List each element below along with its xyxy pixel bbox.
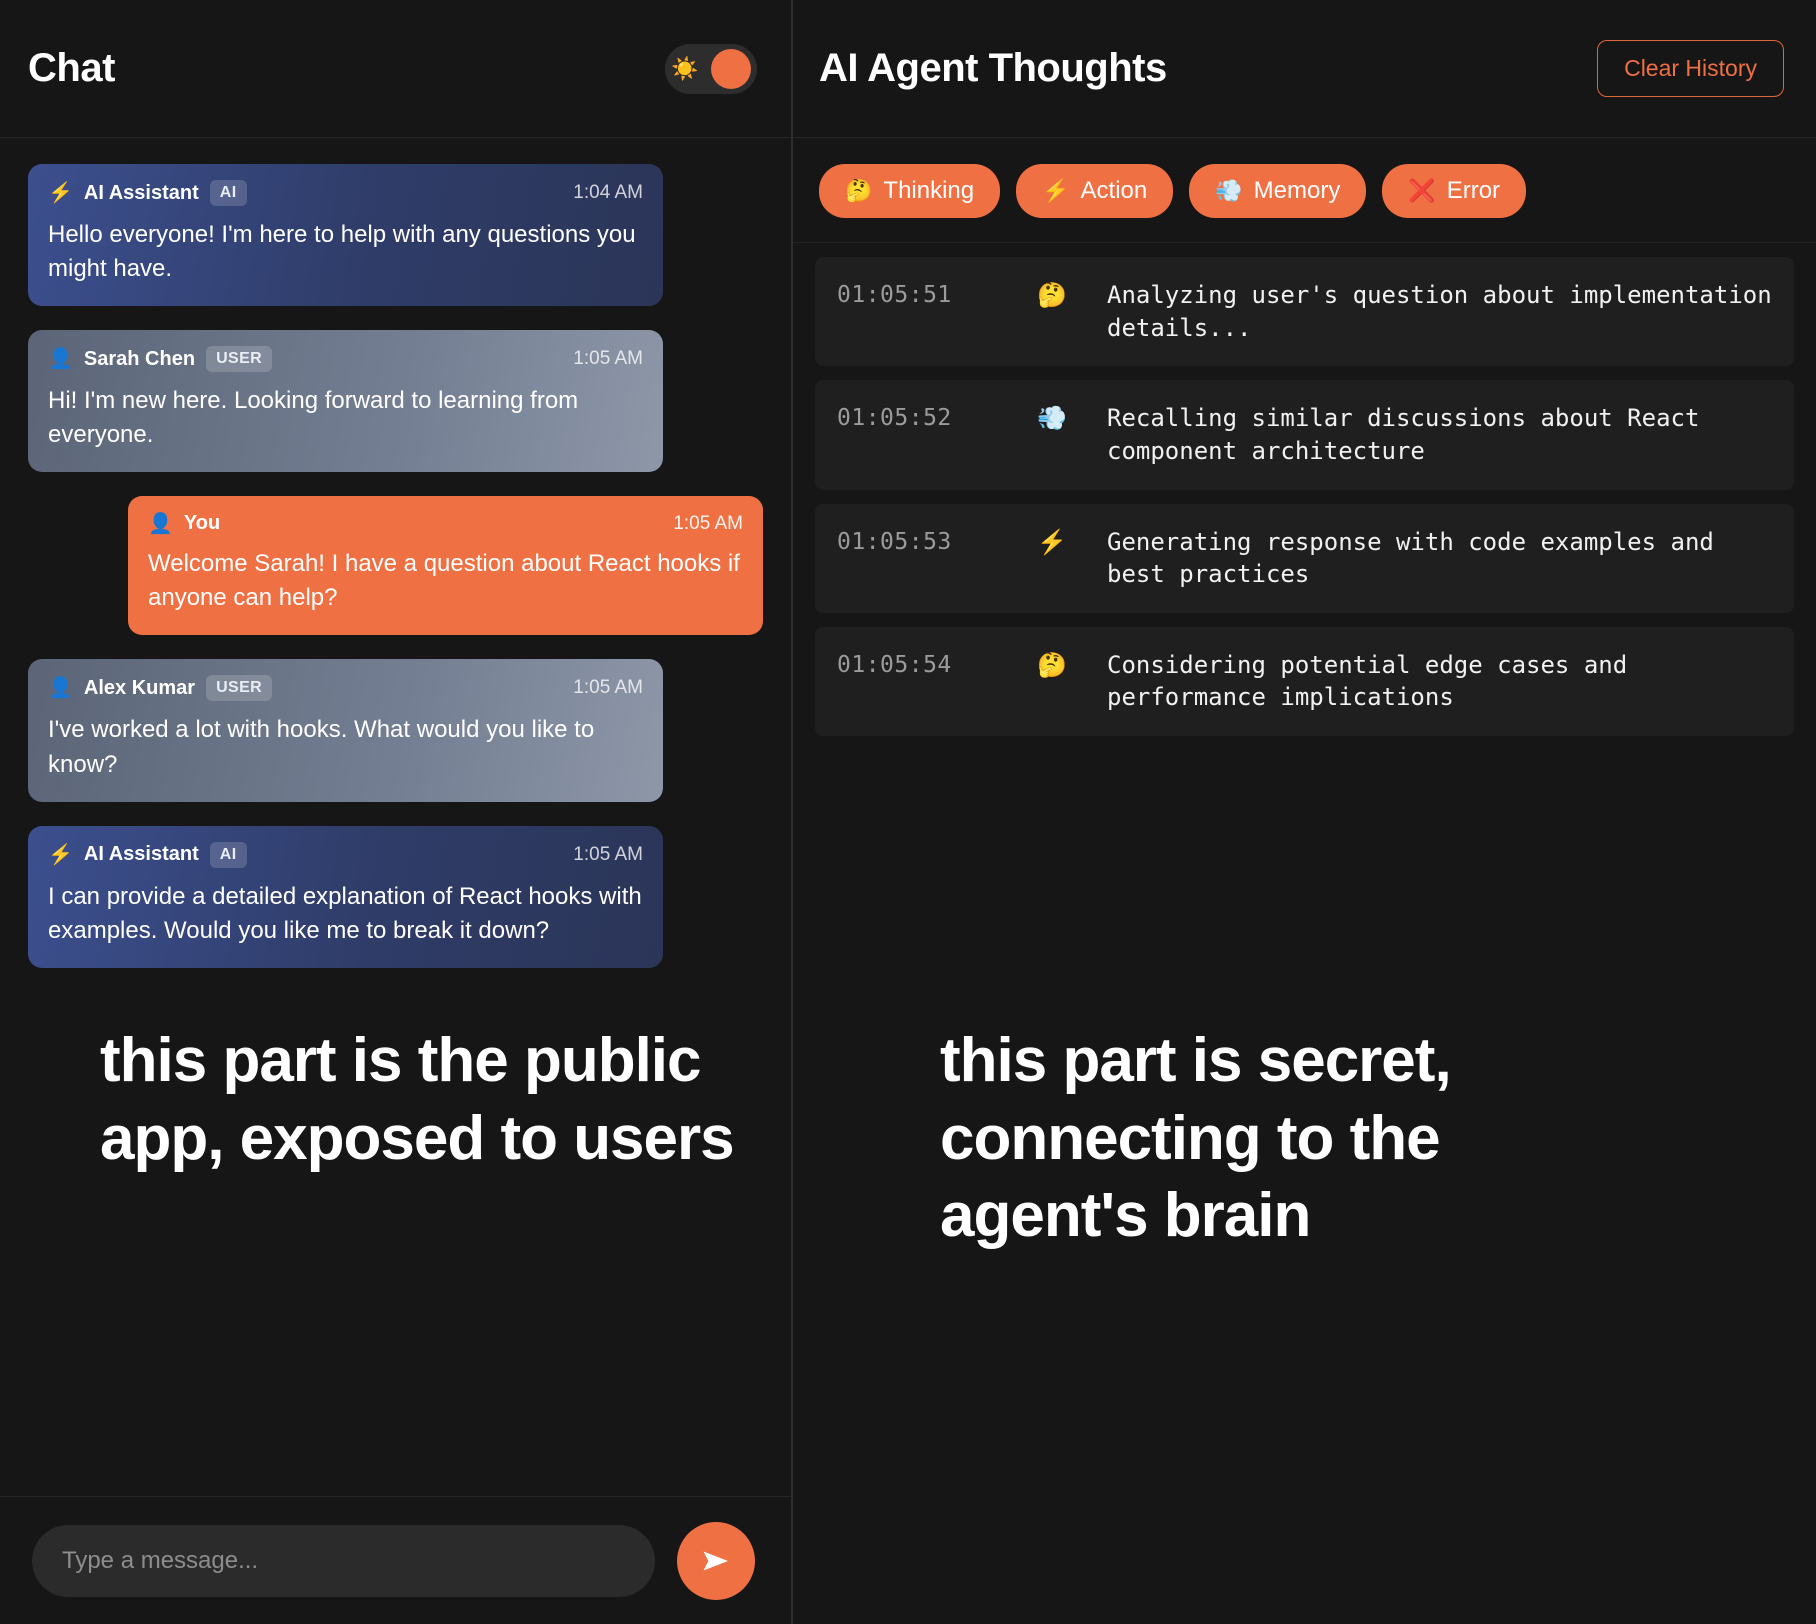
thought-log-row[interactable]: 01:05:54 🤔 Considering potential edge ca…	[815, 627, 1794, 736]
cross-mark-icon: ❌	[1408, 180, 1435, 202]
message-timestamp: 1:05 AM	[553, 844, 643, 866]
lightning-bolt-icon: ⚡	[1037, 526, 1107, 558]
send-arrow-icon	[699, 1544, 733, 1578]
filter-pill-thinking[interactable]: 🤔 Thinking	[819, 164, 1000, 218]
agent-thoughts-panel: AI Agent Thoughts Clear History 🤔 Thinki…	[793, 0, 1816, 1624]
app-root: Chat ☀️ ⚡ AI Assistant AI 1:04 AM Hello …	[0, 0, 1816, 1624]
user-silhouette-icon: 👤	[148, 514, 173, 534]
filter-label: Thinking	[883, 177, 974, 205]
chat-bubble-you[interactable]: 👤 You 1:05 AM Welcome Sarah! I have a qu…	[128, 496, 763, 635]
thought-log-row[interactable]: 01:05:52 💨 Recalling similar discussions…	[815, 380, 1794, 489]
bubble-header: 👤 Sarah Chen USER 1:05 AM	[48, 346, 643, 372]
message-text: Welcome Sarah! I have a question about R…	[148, 547, 743, 615]
filter-label: Error	[1447, 177, 1500, 205]
thinking-face-icon: 🤔	[1037, 279, 1107, 311]
bubble-header: ⚡ AI Assistant AI 1:04 AM	[48, 180, 643, 206]
message-timestamp: 1:05 AM	[553, 348, 643, 370]
thought-timestamp: 01:05:51	[837, 279, 1037, 308]
overlay-caption-public: this part is the public app, exposed to …	[100, 1022, 740, 1177]
clear-history-button[interactable]: Clear History	[1597, 40, 1784, 97]
bubble-header: 👤 You 1:05 AM	[148, 512, 743, 535]
overlay-caption-secret: this part is secret, connecting to the a…	[940, 1022, 1580, 1255]
lightning-bolt-icon: ⚡	[1042, 180, 1069, 202]
message-text: Hi! I'm new here. Looking forward to lea…	[48, 384, 643, 452]
thought-timestamp: 01:05:53	[837, 526, 1037, 555]
message-row: 👤 Alex Kumar USER 1:05 AM I've worked a …	[28, 659, 763, 801]
message-list: ⚡ AI Assistant AI 1:04 AM Hello everyone…	[0, 138, 791, 1496]
thought-timestamp: 01:05:54	[837, 649, 1037, 678]
message-row: 👤 Sarah Chen USER 1:05 AM Hi! I'm new he…	[28, 330, 763, 472]
chat-bubble-alex-kumar[interactable]: 👤 Alex Kumar USER 1:05 AM I've worked a …	[28, 659, 663, 801]
filter-pill-action[interactable]: ⚡ Action	[1016, 164, 1173, 218]
message-composer	[0, 1496, 791, 1624]
message-row: 👤 You 1:05 AM Welcome Sarah! I have a qu…	[28, 496, 763, 635]
bubble-header: ⚡ AI Assistant AI 1:05 AM	[48, 842, 643, 868]
message-text: I can provide a detailed explanation of …	[48, 880, 643, 948]
role-badge: USER	[206, 346, 272, 372]
sender-name: AI Assistant	[84, 182, 199, 205]
filter-label: Action	[1081, 177, 1148, 205]
chat-panel: Chat ☀️ ⚡ AI Assistant AI 1:04 AM Hello …	[0, 0, 793, 1624]
message-text: I've worked a lot with hooks. What would…	[48, 713, 643, 781]
message-input[interactable]	[32, 1525, 655, 1597]
page-title: Chat	[28, 46, 115, 91]
message-row: ⚡ AI Assistant AI 1:04 AM Hello everyone…	[28, 164, 763, 306]
thinking-face-icon: 🤔	[845, 180, 872, 202]
sender-name: You	[184, 512, 220, 535]
message-timestamp: 1:04 AM	[553, 182, 643, 204]
thought-text: Considering potential edge cases and per…	[1107, 649, 1774, 714]
thoughts-title: AI Agent Thoughts	[819, 46, 1167, 91]
sender-name: Sarah Chen	[84, 348, 195, 371]
thoughts-header: AI Agent Thoughts Clear History	[793, 0, 1816, 138]
toggle-knob[interactable]	[711, 49, 751, 89]
sender-name: Alex Kumar	[84, 677, 195, 700]
filter-pill-error[interactable]: ❌ Error	[1382, 164, 1526, 218]
thought-log-row[interactable]: 01:05:51 🤔 Analyzing user's question abo…	[815, 257, 1794, 366]
user-silhouette-icon: 👤	[48, 678, 73, 698]
cloud-puff-icon: 💨	[1215, 180, 1242, 202]
sender-name: AI Assistant	[84, 843, 199, 866]
sun-icon: ☀️	[671, 58, 698, 80]
send-button[interactable]	[677, 1522, 755, 1600]
bubble-header: 👤 Alex Kumar USER 1:05 AM	[48, 675, 643, 701]
chat-bubble-ai-assistant-1[interactable]: ⚡ AI Assistant AI 1:04 AM Hello everyone…	[28, 164, 663, 306]
filter-label: Memory	[1254, 177, 1341, 205]
message-timestamp: 1:05 AM	[553, 677, 643, 699]
theme-toggle[interactable]: ☀️	[665, 44, 757, 94]
cloud-puff-icon: 💨	[1037, 402, 1107, 434]
thought-text: Analyzing user's question about implemen…	[1107, 279, 1774, 344]
thought-filter-bar: 🤔 Thinking ⚡ Action 💨 Memory ❌ Error	[793, 138, 1816, 243]
role-badge: AI	[210, 842, 247, 868]
message-timestamp: 1:05 AM	[653, 513, 743, 535]
lightning-bolt-icon: ⚡	[48, 183, 73, 203]
user-silhouette-icon: 👤	[48, 349, 73, 369]
thought-log-list: 01:05:51 🤔 Analyzing user's question abo…	[793, 243, 1816, 750]
role-badge: USER	[206, 675, 272, 701]
thought-timestamp: 01:05:52	[837, 402, 1037, 431]
message-text: Hello everyone! I'm here to help with an…	[48, 218, 643, 286]
message-row: ⚡ AI Assistant AI 1:05 AM I can provide …	[28, 826, 763, 968]
chat-bubble-ai-assistant-2[interactable]: ⚡ AI Assistant AI 1:05 AM I can provide …	[28, 826, 663, 968]
thought-text: Recalling similar discussions about Reac…	[1107, 402, 1774, 467]
role-badge: AI	[210, 180, 247, 206]
thinking-face-icon: 🤔	[1037, 649, 1107, 681]
chat-header: Chat ☀️	[0, 0, 791, 138]
filter-pill-memory[interactable]: 💨 Memory	[1189, 164, 1366, 218]
chat-bubble-sarah-chen[interactable]: 👤 Sarah Chen USER 1:05 AM Hi! I'm new he…	[28, 330, 663, 472]
thought-log-row[interactable]: 01:05:53 ⚡ Generating response with code…	[815, 504, 1794, 613]
lightning-bolt-icon: ⚡	[48, 845, 73, 865]
thought-text: Generating response with code examples a…	[1107, 526, 1774, 591]
